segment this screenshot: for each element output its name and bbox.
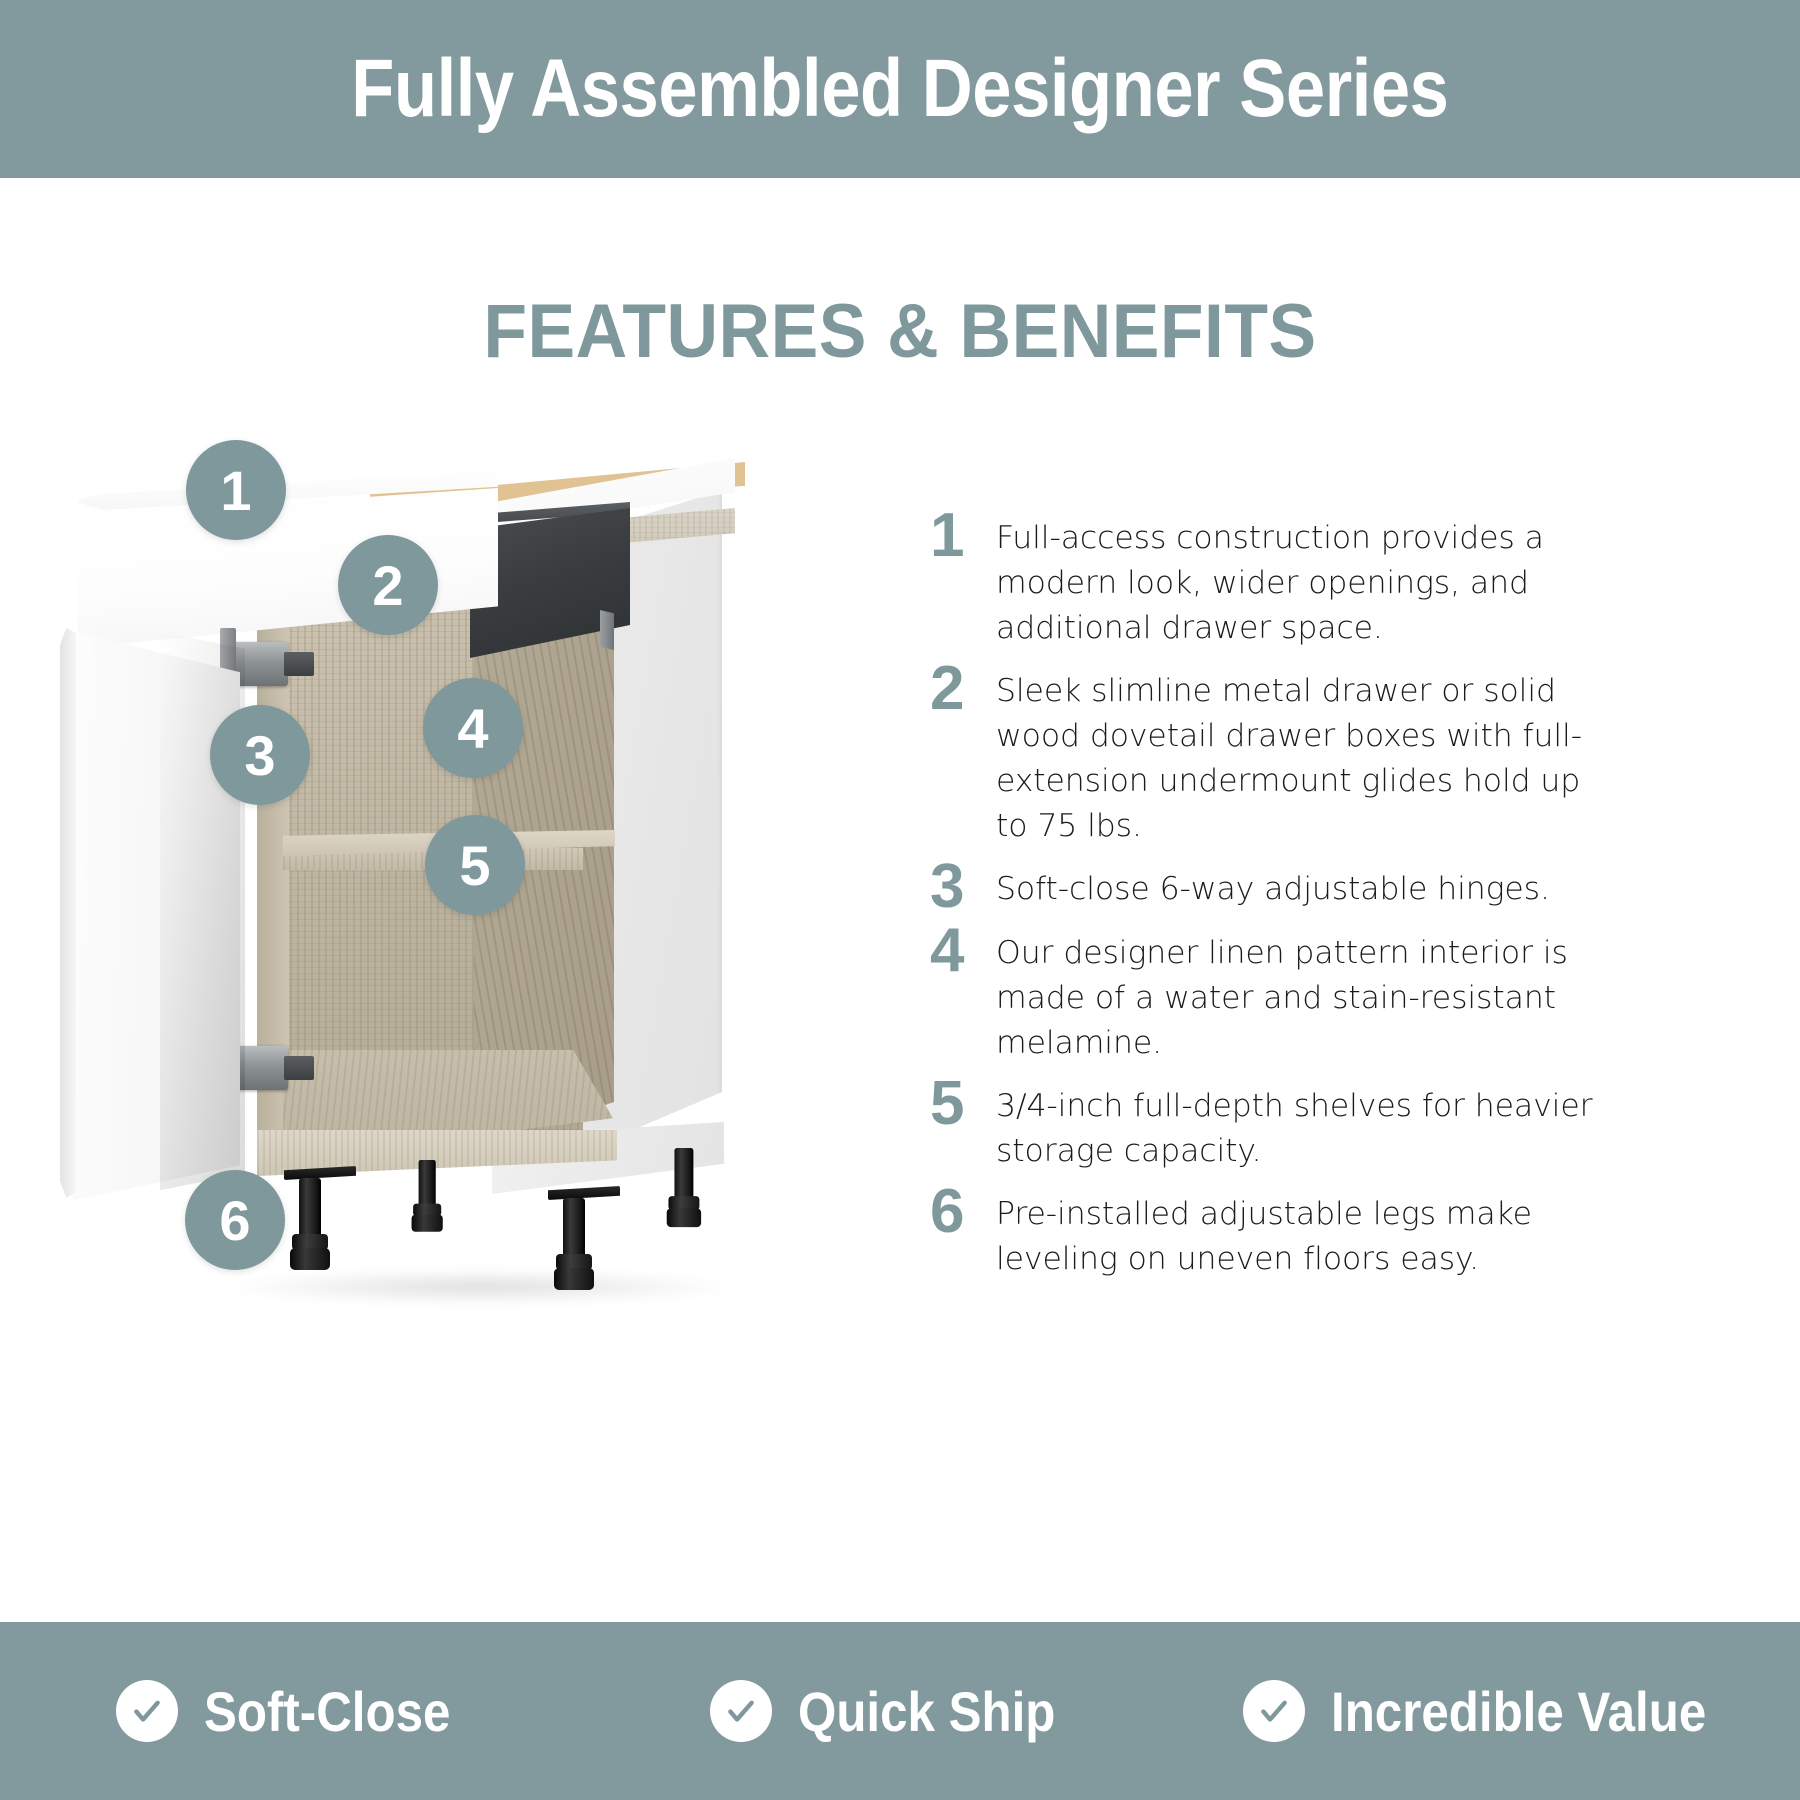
leg-foot [290, 1248, 330, 1270]
check-circle-icon [1243, 1680, 1305, 1742]
leg-foot [667, 1208, 701, 1227]
callout-badge-6[interactable]: 6 [185, 1170, 285, 1270]
callout-badge-2[interactable]: 2 [338, 535, 438, 635]
feature-number-6: 6 [930, 1186, 996, 1238]
door-edge [60, 622, 76, 1198]
page-header: Fully Assembled Designer Series [0, 0, 1800, 178]
feature-item-4: 4 Our designer linen pattern interior is… [930, 931, 1630, 1066]
ground-shadow [220, 1270, 740, 1304]
feature-number-4: 4 [930, 925, 996, 977]
feature-number-1: 1 [930, 510, 996, 562]
feature-number-2: 2 [930, 663, 996, 715]
leg-shaft [563, 1198, 585, 1260]
section-title: FEATURES & BENEFITS [54, 288, 1746, 375]
check-circle-icon [710, 1680, 772, 1742]
feature-item-1: 1 Full-access construction provides a mo… [930, 516, 1630, 651]
leg-shaft [419, 1160, 436, 1208]
feature-item-2: 2 Sleek slimline metal drawer or solid w… [930, 669, 1630, 849]
callout-badge-3[interactable]: 3 [210, 705, 310, 805]
leg-shaft [299, 1178, 321, 1240]
leg-shaft [674, 1148, 693, 1201]
feature-item-3: 3 Soft-close 6-way adjustable hinges. [930, 867, 1630, 913]
feature-item-5: 5 3/4-inch full-depth shelves for heavie… [930, 1084, 1630, 1174]
footer-item-quick-ship: Quick Ship [600, 1679, 1200, 1744]
feature-number-5: 5 [930, 1078, 996, 1130]
feature-text-5: 3/4-inch full-depth shelves for heavier … [996, 1084, 1616, 1174]
check-circle-icon [116, 1680, 178, 1742]
undermount-glide [600, 610, 614, 650]
callout-badge-1[interactable]: 1 [186, 440, 286, 540]
leg-foot [412, 1215, 443, 1232]
product-image: 1 2 3 4 5 6 [40, 430, 860, 1330]
feature-text-1: Full-access construction provides a mode… [996, 516, 1616, 651]
callout-badge-5[interactable]: 5 [425, 815, 525, 915]
footer-item-soft-close: Soft-Close [0, 1679, 600, 1744]
feature-text-4: Our designer linen pattern interior is m… [996, 931, 1616, 1066]
feature-text-6: Pre-installed adjustable legs make level… [996, 1192, 1616, 1282]
footer-label-soft-close: Soft-Close [204, 1679, 450, 1744]
callout-badge-4[interactable]: 4 [423, 678, 523, 778]
feature-number-3: 3 [930, 861, 996, 913]
header-title: Fully Assembled Designer Series [351, 42, 1448, 136]
feature-item-6: 6 Pre-installed adjustable legs make lev… [930, 1192, 1630, 1282]
footer-item-incredible-value: Incredible Value [1200, 1679, 1800, 1744]
feature-text-3: Soft-close 6-way adjustable hinges. [996, 867, 1616, 912]
footer-label-incredible-value: Incredible Value [1331, 1679, 1706, 1744]
features-list: 1 Full-access construction provides a mo… [930, 516, 1630, 1300]
page-footer: Soft-Close Quick Ship Incredible Value [0, 1622, 1800, 1800]
leg-foot [554, 1268, 594, 1290]
door-shading [160, 626, 245, 1196]
feature-text-2: Sleek slimline metal drawer or solid woo… [996, 669, 1616, 849]
footer-label-quick-ship: Quick Ship [798, 1679, 1055, 1744]
